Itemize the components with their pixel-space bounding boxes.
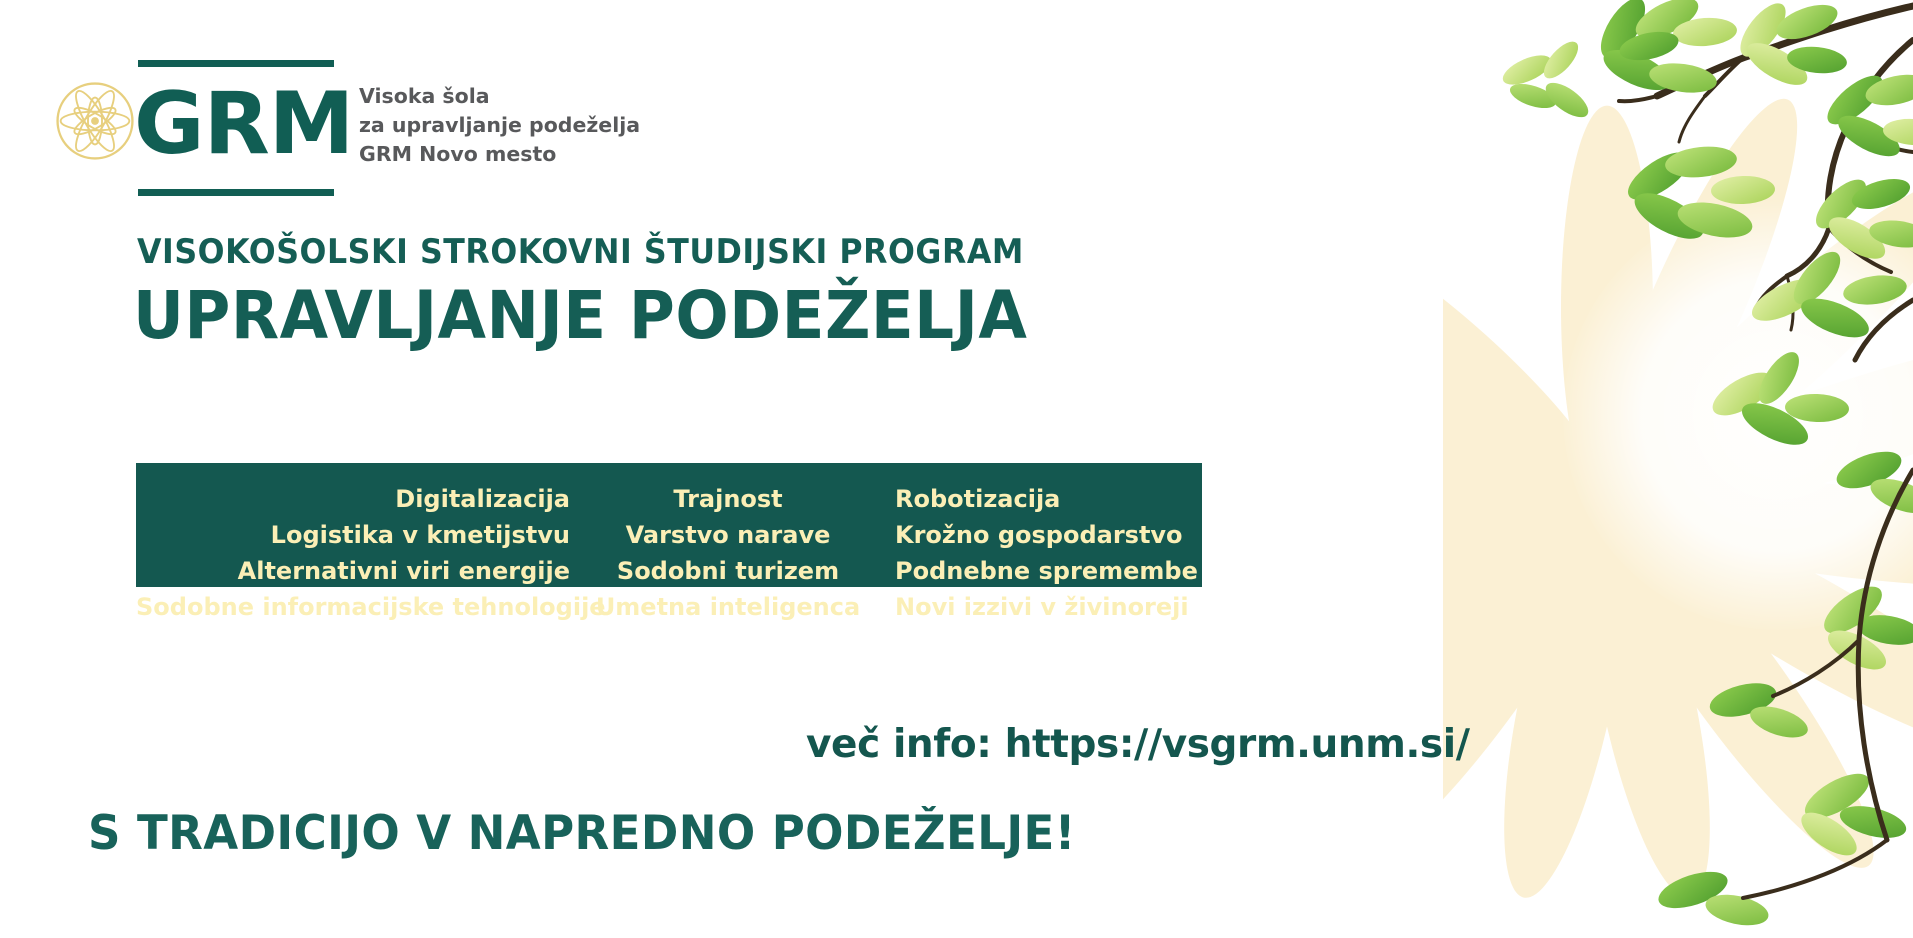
page-title: UPRAVLJANJE PODEŽELJA	[133, 277, 1027, 354]
logo-rule-top	[138, 60, 334, 67]
slogan-text: S TRADICIJO V NAPREDNO PODEŽELJE!	[88, 806, 1076, 861]
leafy-branch-illustration	[1443, 0, 1913, 938]
topic-item: Digitalizacija	[136, 481, 588, 517]
topics-band: Digitalizacija Trajnost Robotizacija Log…	[136, 463, 1202, 587]
topic-item: Varstvo narave	[588, 517, 868, 553]
topic-item: Robotizacija	[868, 481, 1202, 517]
topic-item: Umetna inteligenca	[588, 589, 868, 625]
more-info-url[interactable]: več info: https://vsgrm.unm.si/	[806, 722, 1470, 767]
grm-logo: GRM Visoka šola za upravljanje podeželja…	[56, 52, 716, 202]
flower-rosette-icon	[56, 82, 134, 160]
topic-item: Sodobni turizem	[588, 553, 868, 589]
topic-item: Podnebne spremembe	[868, 553, 1202, 589]
promotional-poster: GRM Visoka šola za upravljanje podeželja…	[0, 0, 1913, 938]
grm-wordmark: GRM	[138, 58, 338, 198]
topic-item: Novi izzivi v živinoreji	[868, 589, 1202, 625]
logo-subtitle: Visoka šola za upravljanje podeželja GRM…	[359, 82, 640, 169]
logo-subtitle-line-1: Visoka šola	[359, 82, 640, 111]
logo-subtitle-line-3: GRM Novo mesto	[359, 140, 640, 169]
logo-rule-bottom	[138, 189, 334, 196]
grm-letters: GRM	[134, 68, 353, 180]
topic-item: Krožno gospodarstvo	[868, 517, 1202, 553]
topic-item: Alternativni viri energije	[136, 553, 588, 589]
topic-item: Sodobne informacijske tehnologije	[136, 589, 588, 625]
topic-item: Logistika v kmetijstvu	[136, 517, 588, 553]
decorative-nature-panel	[1443, 0, 1913, 938]
logo-subtitle-line-2: za upravljanje podeželja	[359, 111, 640, 140]
program-type-label: VISOKOŠOLSKI STROKOVNI ŠTUDIJSKI PROGRAM	[137, 232, 1024, 272]
topic-item: Trajnost	[588, 481, 868, 517]
